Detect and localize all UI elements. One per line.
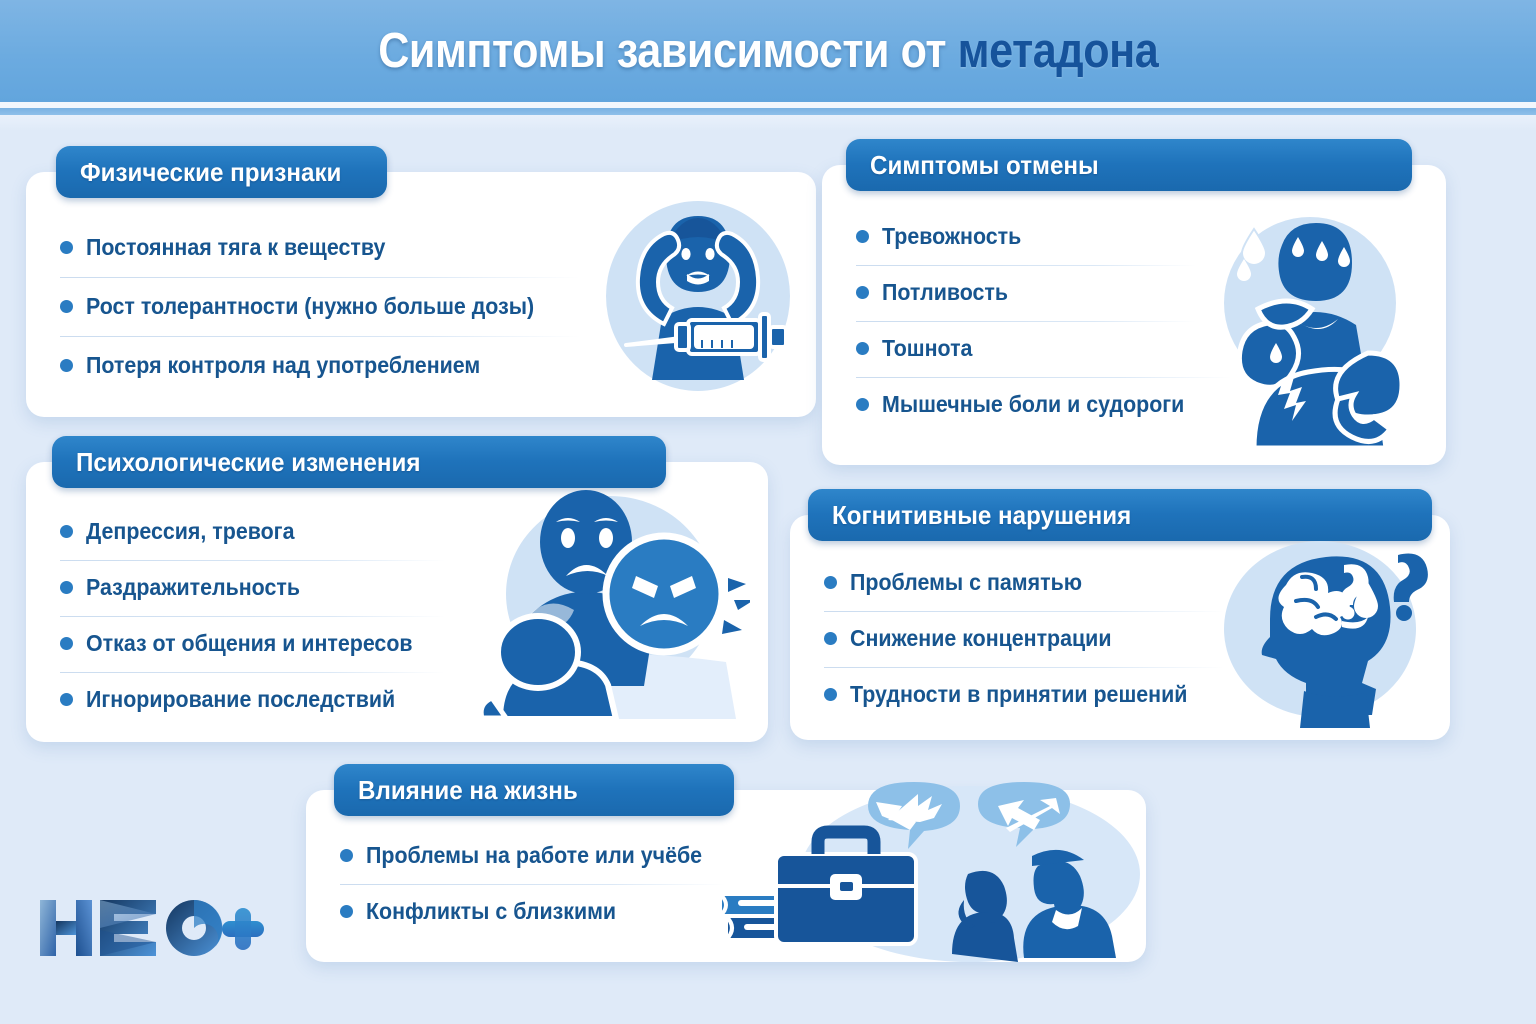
- header-gradient-fade: [0, 115, 1536, 131]
- brand-logo: [36, 890, 266, 966]
- bullet-dot-icon: [60, 359, 73, 372]
- list-item-label: Конфликты с близкими: [366, 898, 616, 925]
- list-separator: [60, 672, 445, 673]
- bullet-dot-icon: [856, 342, 869, 355]
- bullet-dot-icon: [60, 581, 73, 594]
- card-withdrawal-symptoms-header: Симптомы отмены: [846, 139, 1412, 191]
- card-life-impact-list: Проблемы на работе или учёбе Конфликты с…: [340, 842, 727, 925]
- list-item-label: Рост толерантности (нужно больше дозы): [86, 293, 534, 320]
- list-item-label: Тревожность: [882, 223, 1021, 250]
- bullet-dot-icon: [60, 693, 73, 706]
- list-item-label: Снижение концентрации: [850, 625, 1111, 652]
- bullet-dot-icon: [60, 525, 73, 538]
- list-item: Трудности в принятии решений: [824, 681, 1224, 708]
- list-item-label: Раздражительность: [86, 574, 300, 601]
- head-brain-question-marks-icon: [1210, 533, 1440, 728]
- list-item: Депрессия, тревога: [60, 518, 445, 545]
- card-psychological-changes: Психологические изменения Депрессия, тре…: [26, 462, 768, 742]
- list-item: Проблемы на работе или учёбе: [340, 842, 727, 869]
- bullet-dot-icon: [340, 849, 353, 862]
- list-item-label: Игнорирование последствий: [86, 686, 395, 713]
- bullet-dot-icon: [856, 286, 869, 299]
- page-title-main: Симптомы зависимости от: [378, 24, 957, 78]
- header-divider-blue: [0, 108, 1536, 115]
- list-item: Отказ от общения и интересов: [60, 630, 445, 657]
- sweating-person-with-cramps-icon: [1198, 203, 1438, 448]
- list-item: Потеря контроля над употреблением: [60, 352, 580, 379]
- list-separator: [856, 265, 1196, 266]
- list-item: Снижение концентрации: [824, 625, 1224, 652]
- list-item-label: Потливость: [882, 279, 1008, 306]
- bullet-dot-icon: [340, 905, 353, 918]
- list-item: Постоянная тяга к веществу: [60, 234, 580, 261]
- list-item-label: Проблемы на работе или учёбе: [366, 842, 702, 869]
- card-physical-signs-title: Физические признаки: [80, 157, 341, 188]
- card-physical-signs-header: Физические признаки: [56, 146, 387, 198]
- list-item-label: Постоянная тяга к веществу: [86, 234, 385, 261]
- card-psychological-changes-header: Психологические изменения: [52, 436, 666, 488]
- card-physical-signs: Физические признаки Постоянная тяга к ве…: [26, 172, 816, 417]
- page-header-band: Симптомы зависимости от метадона: [0, 0, 1536, 102]
- list-separator: [856, 321, 1196, 322]
- list-separator: [856, 377, 1231, 378]
- card-withdrawal-symptoms: Симптомы отмены Тревожность Потливость Т…: [822, 165, 1446, 465]
- list-separator: [824, 611, 1224, 612]
- bullet-dot-icon: [824, 632, 837, 645]
- list-item: Тревожность: [856, 223, 1231, 250]
- card-life-impact-header: Влияние на жизнь: [334, 764, 734, 816]
- list-item: Игнорирование последствий: [60, 686, 445, 713]
- card-psychological-changes-list: Депрессия, тревога Раздражительность Отк…: [60, 518, 445, 713]
- list-separator: [824, 667, 1224, 668]
- bullet-dot-icon: [824, 576, 837, 589]
- page-title: Симптомы зависимости от метадона: [378, 23, 1158, 79]
- card-withdrawal-symptoms-list: Тревожность Потливость Тошнота Мышечные …: [856, 223, 1231, 418]
- list-item-label: Потеря контроля над употреблением: [86, 352, 480, 379]
- card-life-impact: Влияние на жизнь Проблемы на работе или …: [306, 790, 1146, 962]
- bullet-dot-icon: [60, 241, 73, 254]
- list-item: Мышечные боли и судороги: [856, 391, 1231, 418]
- list-separator: [60, 616, 445, 617]
- sad-and-angry-faces-icon: [470, 484, 750, 719]
- card-cognitive-impairment: Когнитивные нарушения Проблемы с памятью…: [790, 515, 1450, 740]
- list-item-label: Тошнота: [882, 335, 972, 362]
- list-item: Рост толерантности (нужно больше дозы): [60, 293, 580, 320]
- list-item-label: Проблемы с памятью: [850, 569, 1082, 596]
- page-title-accent: метадона: [957, 24, 1158, 78]
- card-physical-signs-list: Постоянная тяга к веществу Рост толерант…: [60, 234, 580, 379]
- list-separator: [340, 884, 725, 885]
- bullet-dot-icon: [856, 398, 869, 411]
- bullet-dot-icon: [856, 230, 869, 243]
- list-separator: [60, 336, 580, 337]
- list-separator: [60, 277, 580, 278]
- list-item-label: Депрессия, тревога: [86, 518, 294, 545]
- bullet-dot-icon: [824, 688, 837, 701]
- list-item: Тошнота: [856, 335, 1231, 362]
- list-item-label: Трудности в принятии решений: [850, 681, 1187, 708]
- card-cognitive-impairment-list: Проблемы с памятью Снижение концентрации…: [824, 569, 1224, 708]
- stressed-person-with-syringe-icon: [592, 188, 804, 393]
- card-psychological-changes-title: Психологические изменения: [76, 447, 420, 478]
- list-item-label: Мышечные боли и судороги: [882, 391, 1184, 418]
- briefcase-books-people-conflict-icon: [720, 782, 1140, 962]
- list-item: Раздражительность: [60, 574, 445, 601]
- card-cognitive-impairment-title: Когнитивные нарушения: [832, 500, 1131, 531]
- bullet-dot-icon: [60, 637, 73, 650]
- list-item: Конфликты с близкими: [340, 898, 727, 925]
- list-item: Потливость: [856, 279, 1231, 306]
- card-withdrawal-symptoms-title: Симптомы отмены: [870, 150, 1099, 181]
- list-separator: [60, 560, 445, 561]
- list-item: Проблемы с памятью: [824, 569, 1224, 596]
- card-life-impact-title: Влияние на жизнь: [358, 775, 578, 806]
- list-item-label: Отказ от общения и интересов: [86, 630, 413, 657]
- bullet-dot-icon: [60, 300, 73, 313]
